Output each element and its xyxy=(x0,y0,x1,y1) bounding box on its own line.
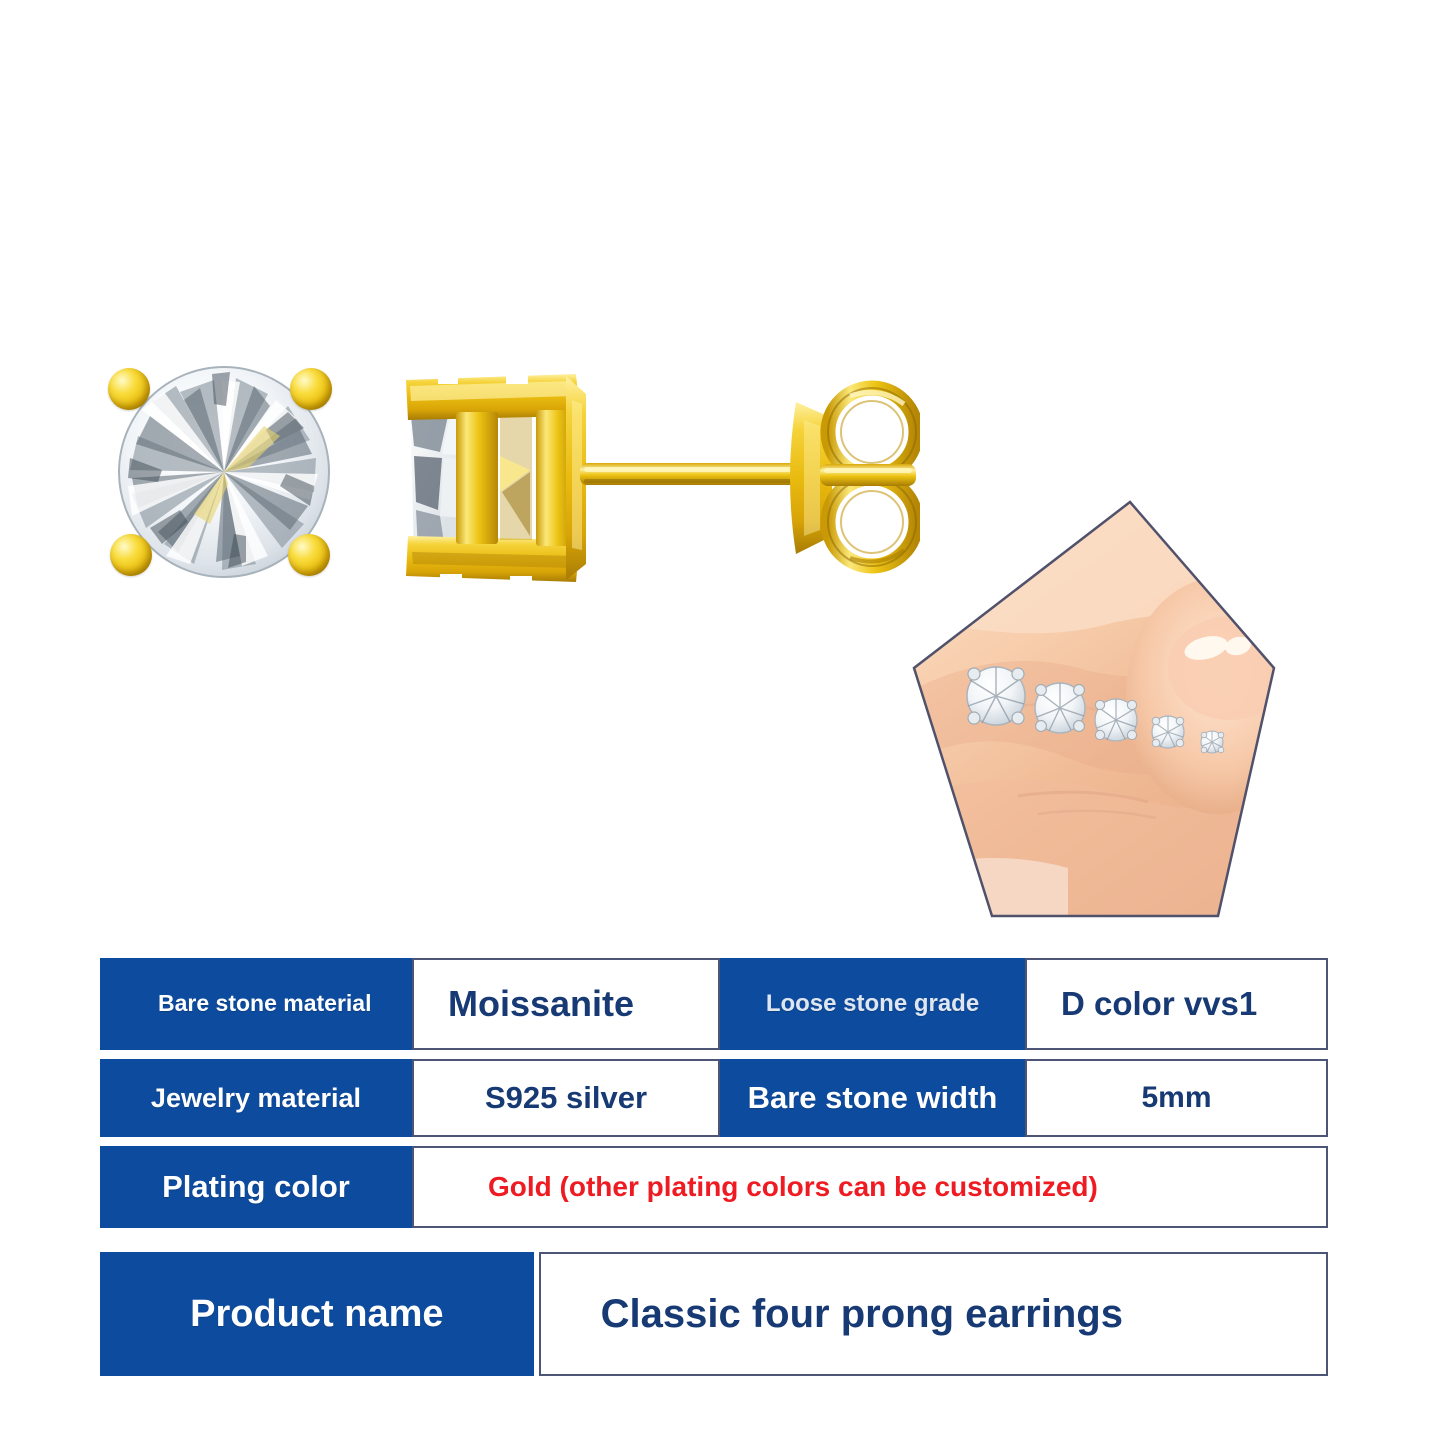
spec-value-bare-stone-width: 5mm xyxy=(1025,1059,1328,1137)
table-row: Bare stone material Moissanite Loose sto… xyxy=(100,958,1328,1050)
spec-value-bare-stone-material: Moissanite xyxy=(412,958,720,1050)
stone-sample-2 xyxy=(1035,683,1085,733)
spec-value-jewelry-material: S925 silver xyxy=(412,1059,720,1137)
spec-label-product-name: Product name xyxy=(100,1252,534,1376)
stone-sample-3 xyxy=(1095,699,1137,741)
spec-value-loose-stone-grade: D color vvs1 xyxy=(1025,958,1328,1050)
prong-bottom-left-icon xyxy=(110,534,152,576)
specification-table: Bare stone material Moissanite Loose sto… xyxy=(100,958,1328,1376)
spec-value-product-name: Classic four prong earrings xyxy=(539,1252,1328,1376)
spec-label-jewelry-material: Jewelry material xyxy=(100,1059,412,1137)
butterfly-clutch xyxy=(790,388,916,566)
spec-label-loose-stone-grade: Loose stone grade xyxy=(720,958,1025,1050)
size-comparison-inset xyxy=(908,496,1276,922)
earring-post xyxy=(580,463,825,485)
stone-sample-1 xyxy=(967,667,1025,725)
table-row: Jewelry material S925 silver Bare stone … xyxy=(100,1059,1328,1137)
product-photo-area xyxy=(0,0,1445,945)
spec-value-plating-color: Gold (other plating colors can be custom… xyxy=(412,1146,1328,1228)
prong-bottom-right-icon xyxy=(288,534,330,576)
spec-label-bare-stone-material: Bare stone material xyxy=(100,958,412,1050)
stone-sample-4 xyxy=(1152,716,1184,748)
stone-sample-5 xyxy=(1201,731,1224,753)
front-view-stud-image xyxy=(104,358,344,590)
spec-label-plating-color: Plating color xyxy=(100,1146,412,1228)
table-row: Plating color Gold (other plating colors… xyxy=(100,1146,1328,1228)
prong-top-right-icon xyxy=(290,368,332,410)
prong-top-left-icon xyxy=(108,368,150,410)
side-view-stud-image xyxy=(380,360,920,595)
table-row: Product name Classic four prong earrings xyxy=(100,1252,1328,1376)
spec-label-bare-stone-width: Bare stone width xyxy=(720,1059,1025,1137)
